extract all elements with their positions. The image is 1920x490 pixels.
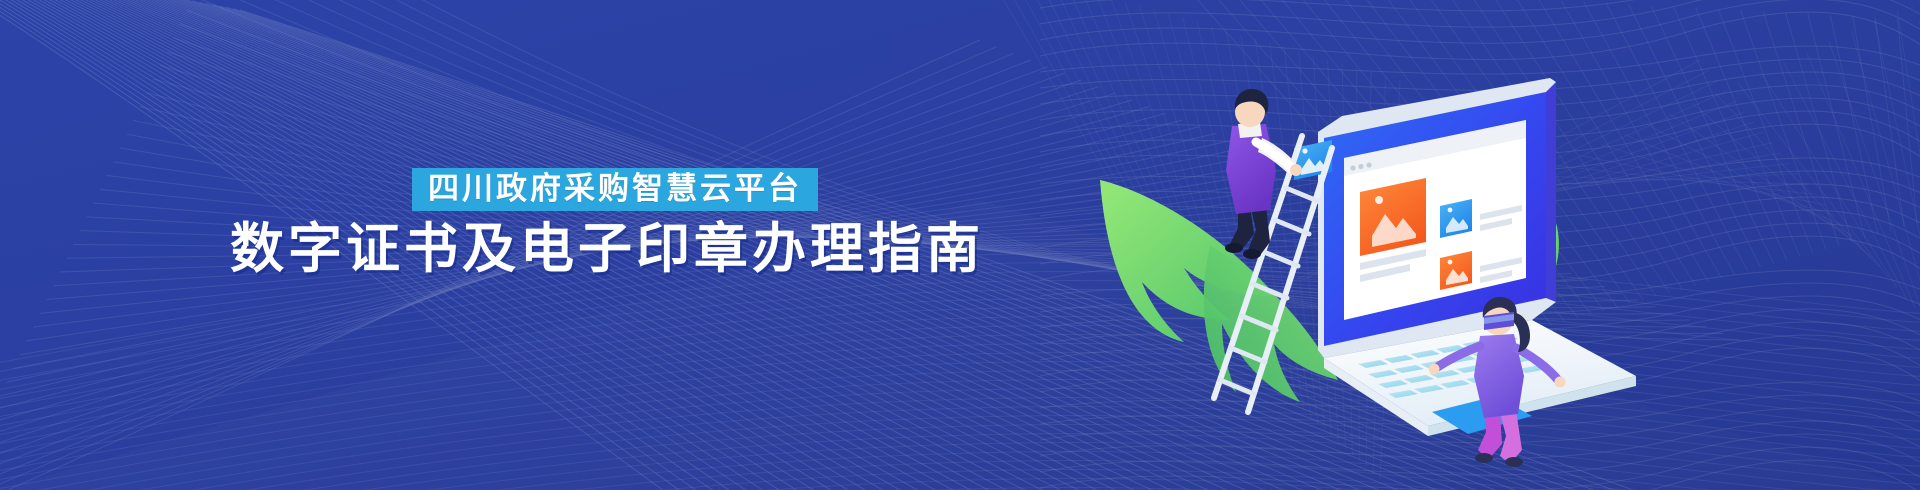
- banner-root: 四川政府采购智慧云平台 数字证书及电子印章办理指南: [0, 0, 1920, 490]
- text-block: 四川政府采购智慧云平台 数字证书及电子印章办理指南: [230, 168, 950, 278]
- person-on-ladder: [1225, 89, 1302, 259]
- banner-content: 四川政府采购智慧云平台 数字证书及电子印章办理指南: [0, 0, 1920, 490]
- isometric-laptop-illustration: [1080, 20, 1640, 490]
- green-leaf-right: [1204, 246, 1338, 402]
- page-title: 数字证书及电子印章办理指南: [230, 220, 950, 278]
- platform-badge-label: 四川政府采购智慧云平台: [428, 173, 802, 204]
- platform-badge: 四川政府采购智慧云平台: [412, 168, 818, 211]
